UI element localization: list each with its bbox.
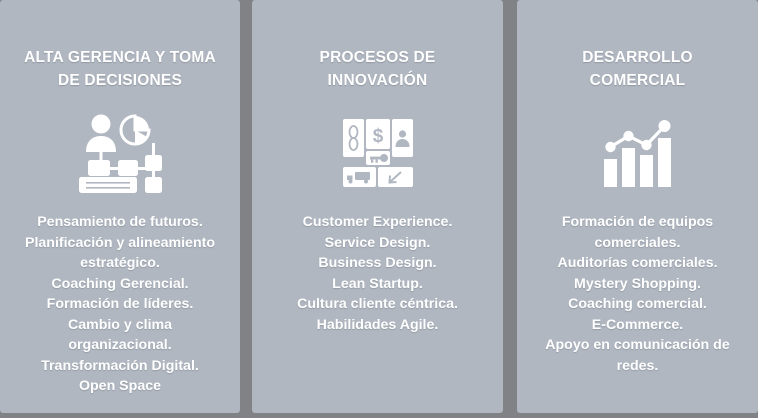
panel-body-text: Formación de equipos comerciales. Audito… [531, 212, 743, 376]
bottom-background-strip [0, 413, 758, 418]
svg-text:$: $ [372, 126, 383, 147]
services-panels-board: ALTA GERENCIA Y TOMA DE DECISIONES [0, 0, 758, 418]
bar-chart-growth-line-icon [600, 110, 676, 196]
business-model-canvas-grid-icon: $ [342, 110, 414, 196]
panel-procesos-innovacion[interactable]: PROCESOS DE INNOVACIÓN [252, 0, 503, 413]
panel-title: DESARROLLO COMERCIAL [527, 46, 749, 92]
panel-body-text: Customer Experience. Service Design. Bus… [267, 212, 488, 335]
org-chart-people-piechart-icon [77, 110, 163, 196]
panel-body-text: Pensamiento de futuros. Planificación y … [14, 212, 225, 397]
panel-title: PROCESOS DE INNOVACIÓN [262, 46, 493, 92]
panel-alta-gerencia[interactable]: ALTA GERENCIA Y TOMA DE DECISIONES [0, 0, 240, 413]
panel-divider [503, 0, 516, 413]
panel-desarrollo-comercial[interactable]: DESARROLLO COMERCIAL [517, 0, 758, 413]
panel-title: ALTA GERENCIA Y TOMA DE DECISIONES [10, 46, 231, 92]
